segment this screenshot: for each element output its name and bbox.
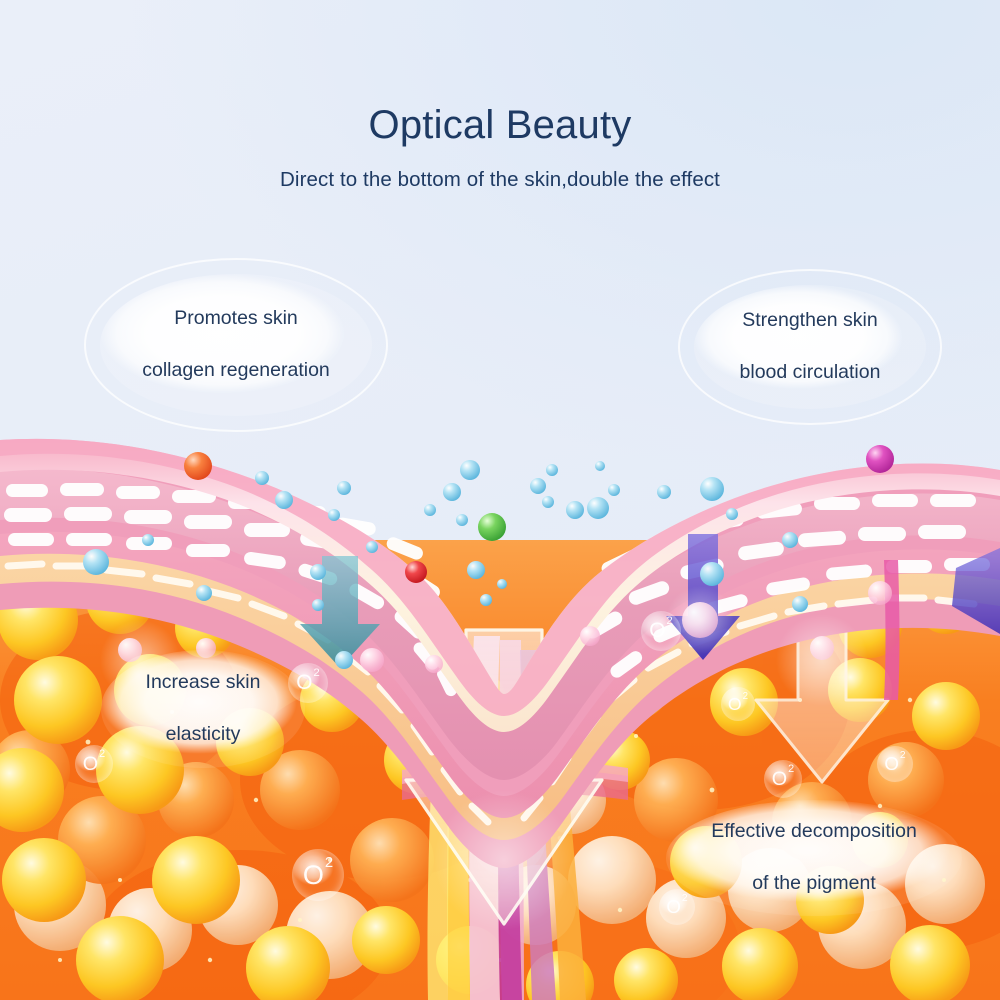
o2-marker: O2 [641,611,681,651]
o2-marker: O2 [292,849,344,901]
o2-marker: O2 [764,760,802,798]
o2-marker: O2 [721,687,755,721]
green-sphere [478,513,506,541]
o2-marker: O2 [659,889,695,925]
magenta-strand-right [884,560,900,700]
callout-line-1: Promotes skin [142,306,330,332]
illustration-canvas: O2O2O2O2O2O2O2O2 Optical Beauty Direct t… [0,0,1000,1000]
o2-marker: O2 [877,746,913,782]
callout-line-2: elasticity [146,722,261,748]
callout-decomposition-pigment[interactable]: Effective decomposition of the pigment [666,800,962,916]
callout-strengthen-circulation[interactable]: Strengthen skin blood circulation [694,285,926,409]
callout-line-2: of the pigment [711,871,917,897]
callout-line-1: Strengthen skin [740,308,881,334]
callout-line-1: Effective decomposition [711,819,917,845]
callout-line-1: Increase skin [146,670,261,696]
page-title: Optical Beauty [0,103,1000,148]
page-subtitle: Direct to the bottom of the skin,double … [0,168,1000,192]
callout-promotes-collagen[interactable]: Promotes skin collagen regeneration [100,274,372,416]
callout-line-2: blood circulation [740,360,881,386]
magenta-sphere [866,445,894,473]
o2-marker: O2 [75,745,113,783]
callout-line-2: collagen regeneration [142,358,330,384]
red-sphere [405,561,427,583]
orange-sphere [184,452,212,480]
callout-increase-elasticity[interactable]: Increase skin elasticity [101,650,305,768]
